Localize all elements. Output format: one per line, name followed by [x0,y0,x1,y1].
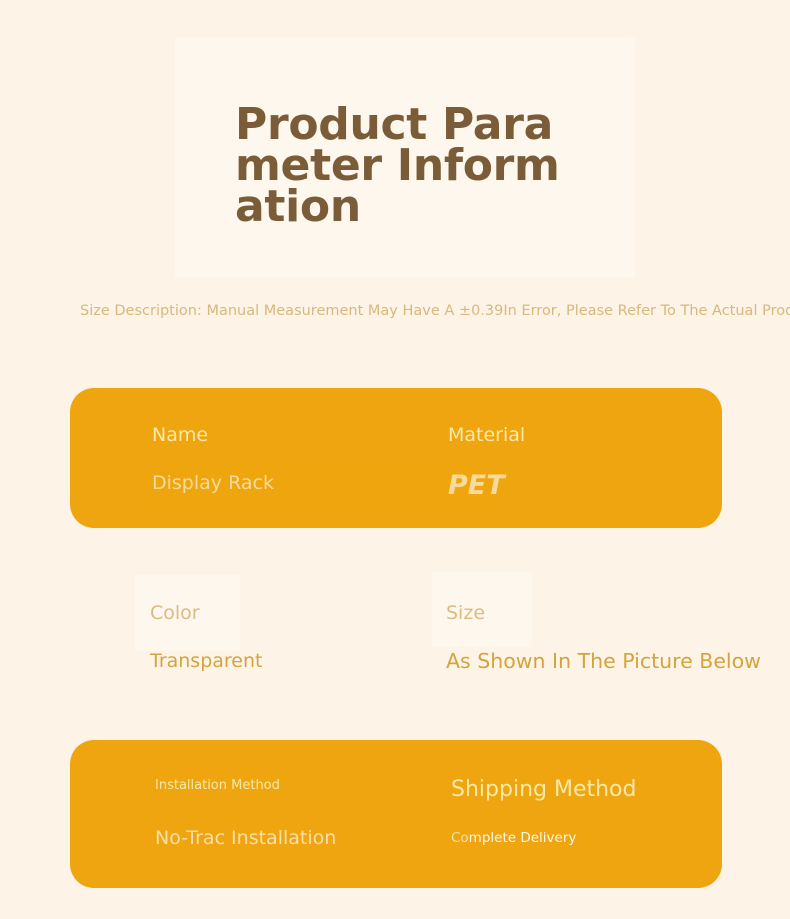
spec-value-installation-method: No-Trac Installation [155,827,451,849]
spec-value-shipping-method: Complete Delivery [451,830,722,846]
page-title: Product Parameter Information [235,104,565,227]
spec-value-material: PET [448,472,722,500]
spec-row-installation-shipping: Installation Method No-Trac Installation… [70,740,722,888]
spec-row-color-size: Color Transparent Size As Shown In The P… [70,578,790,708]
spec-cell-material: Material PET [448,424,722,528]
spec-cell-color: Color Transparent [150,602,446,708]
spec-label-name: Name [152,424,448,446]
spec-label-installation-method: Installation Method [155,778,451,794]
spec-cell-size: Size As Shown In The Picture Below [446,602,790,708]
spec-cell-name: Name Display Rack [152,424,448,528]
spec-value-name: Display Rack [152,472,448,494]
spec-value-size: As Shown In The Picture Below [446,650,790,672]
spec-value-color: Transparent [150,650,446,672]
spec-cell-installation-method: Installation Method No-Trac Installation [155,778,451,888]
spec-label-shipping-method: Shipping Method [451,778,722,802]
spec-row-name-material: Name Display Rack Material PET [70,388,722,528]
size-description-note: Size Description: Manual Measurement May… [80,301,790,321]
spec-cell-shipping-method: Shipping Method Complete Delivery [451,778,722,888]
spec-label-color: Color [150,602,446,624]
spec-label-material: Material [448,424,722,446]
spec-label-size: Size [446,602,790,624]
product-parameter-page: Product Parameter Information Size Descr… [0,0,790,919]
